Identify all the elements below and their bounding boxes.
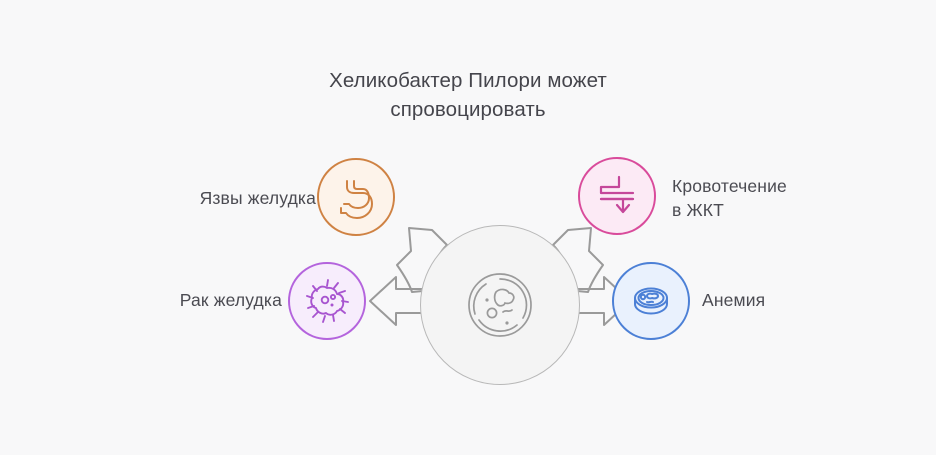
label-cancer: Рак желудка	[147, 288, 282, 312]
icon-badge-cancer[interactable]	[288, 262, 366, 340]
infographic-canvas: Хеликобактер Пилори может спровоцировать	[0, 0, 936, 455]
petri-dish-blood-icon	[627, 277, 675, 325]
icon-badge-ulcer[interactable]	[317, 158, 395, 236]
icon-badge-anemia[interactable]	[612, 262, 690, 340]
icon-badge-bleeding[interactable]	[578, 157, 656, 235]
arrow-left-icon	[370, 277, 425, 325]
stomach-icon	[333, 174, 379, 220]
label-ulcer: Язвы желудка	[166, 186, 316, 210]
page-title: Хеликобактер Пилори может спровоцировать	[268, 66, 668, 124]
bleeding-flow-down-arrow-icon	[594, 173, 640, 219]
bacteria-cell-icon	[465, 270, 535, 340]
cancer-cell-icon	[303, 277, 351, 325]
center-pathogen-circle	[420, 225, 580, 385]
label-anemia: Анемия	[702, 288, 862, 312]
label-bleeding: Кровотечение в ЖКТ	[672, 174, 862, 222]
